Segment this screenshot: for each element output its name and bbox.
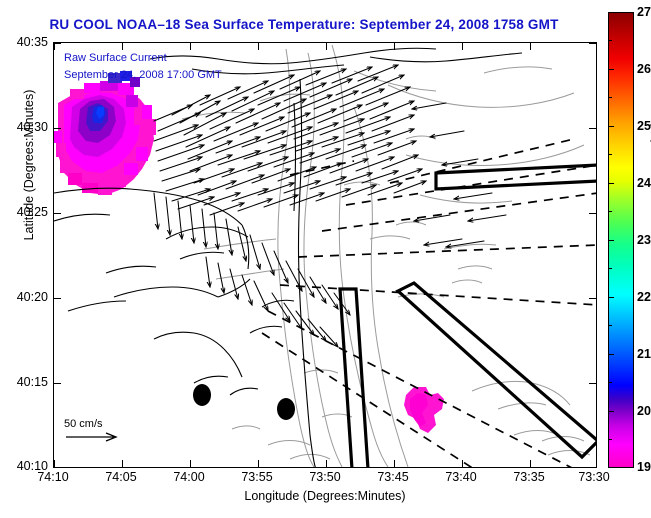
y-axis-title: Latitude (Degrees:Minutes) (22, 40, 36, 290)
colorbar-minor-tick (608, 154, 612, 155)
colorbar-minor-tick (608, 439, 612, 440)
x-tick (530, 460, 531, 467)
colorbar-label: 19 (637, 460, 651, 474)
x-tick (190, 460, 191, 467)
x-tick-top (530, 43, 531, 50)
x-tick (326, 460, 327, 467)
surface-current-vectors (154, 65, 506, 347)
colorbar-label: 21 (637, 347, 651, 361)
colorbar-minor-tick (608, 211, 612, 212)
y-tick (54, 43, 61, 44)
colorbar-tick (608, 69, 614, 70)
x-tick-label: 73:55 (241, 470, 272, 484)
colorbar-minor-tick (608, 382, 612, 383)
colorbar-tick (608, 240, 614, 241)
velocity-scale: 50 cm/s (64, 418, 122, 443)
map-canvas (54, 43, 597, 468)
colorbar-label: 22 (637, 290, 651, 304)
sst-map-figure: RU COOL NOAA–18 Sea Surface Temperature:… (0, 0, 651, 518)
y-tick (54, 128, 61, 129)
colorbar-tick (608, 467, 614, 468)
colorbar-tick (608, 183, 614, 184)
colorbar-minor-tick (608, 97, 612, 98)
colorbar-minor-tick (608, 268, 612, 269)
colorbar-tick (608, 411, 614, 412)
annotation-line-2: September 24, 2008 17:00 GMT (64, 69, 222, 81)
y-tick (54, 213, 61, 214)
x-tick-top (462, 43, 463, 50)
y-tick-right (589, 213, 596, 214)
x-tick-top (394, 43, 395, 50)
x-tick (394, 460, 395, 467)
annotation-line-1: Raw Surface Current (64, 52, 167, 64)
x-tick-label: 74:00 (173, 470, 204, 484)
x-tick-top (190, 43, 191, 50)
y-tick-label: 40:10 (17, 459, 48, 473)
x-tick-label: 74:05 (105, 470, 136, 484)
colorbar-tick (608, 297, 614, 298)
x-tick-top (122, 43, 123, 50)
x-tick-label: 73:40 (445, 470, 476, 484)
y-tick-right (589, 383, 596, 384)
x-tick (462, 460, 463, 467)
y-tick (54, 383, 61, 384)
y-tick-label: 40:15 (17, 375, 48, 389)
sst-cold-plume-northwest (54, 71, 156, 195)
colorbar-minor-tick (608, 325, 612, 326)
y-tick-right (589, 43, 596, 44)
station-marker-west[interactable] (193, 384, 211, 406)
velocity-scale-label: 50 cm/s (64, 418, 122, 430)
x-tick-top (258, 43, 259, 50)
x-tick-top (326, 43, 327, 50)
x-tick-top (596, 43, 597, 50)
y-tick (54, 467, 61, 468)
x-tick-label: 73:50 (309, 470, 340, 484)
map-plot-area[interactable]: Raw Surface Current September 24, 2008 1… (53, 42, 597, 468)
y-tick-label: 40:20 (17, 290, 48, 304)
colorbar-tick (608, 126, 614, 127)
x-tick (54, 460, 55, 467)
x-tick-label: 73:35 (513, 470, 544, 484)
y-tick (54, 298, 61, 299)
figure-title: RU COOL NOAA–18 Sea Surface Temperature:… (0, 17, 608, 32)
right-arrow-icon (64, 431, 122, 443)
station-marker-east[interactable] (277, 398, 295, 420)
x-tick-label: 73:45 (377, 470, 408, 484)
y-tick-right (589, 128, 596, 129)
colorbar-tick (608, 354, 614, 355)
x-tick (122, 460, 123, 467)
sst-cold-patch-southeast (404, 387, 444, 433)
x-tick (596, 460, 597, 467)
x-tick-label: 73:30 (578, 470, 609, 484)
station-markers[interactable] (193, 384, 295, 420)
y-tick-right (589, 298, 596, 299)
x-axis-title: Longitude (Degrees:Minutes) (53, 489, 597, 503)
colorbar-label: 20 (637, 404, 651, 418)
colorbar-tick (608, 12, 614, 13)
bathymetry-contours (182, 45, 590, 467)
x-tick (258, 460, 259, 467)
colorbar-label: 27 (637, 5, 651, 19)
colorbar-minor-tick (608, 40, 612, 41)
y-tick-right (589, 467, 596, 468)
